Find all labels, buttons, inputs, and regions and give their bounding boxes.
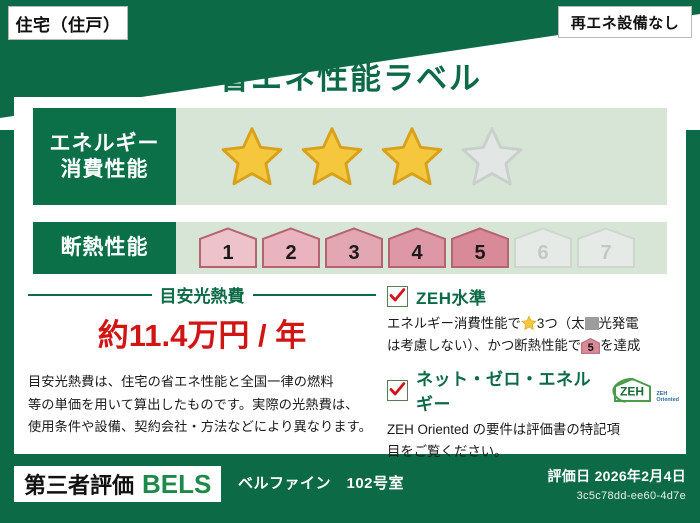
utility-cost-note-line3: 使用条件や設備、契約会社・方法などにより異なります。 xyxy=(28,416,376,439)
insulation-level-filled: 5 xyxy=(450,227,510,269)
insulation-level-empty: 6 xyxy=(513,227,573,269)
evaluation-info: 評価日 2026年2月4日 3c5c78dd-ee60-4d7e xyxy=(547,466,686,502)
utility-cost-heading: 目安光熱費 xyxy=(28,282,376,307)
energy-performance-row: エネルギー 消費性能 xyxy=(33,108,667,205)
label-main-title: 省エネ性能ラベル xyxy=(0,63,700,94)
evaluation-date: 評価日 2026年2月4日 xyxy=(547,466,686,486)
insulation-level-empty: 7 xyxy=(576,227,636,269)
utility-cost-block: 目安光熱費 約11.4万円 / 年 目安光熱費は、住宅の省エネ性能と全国一律の燃… xyxy=(28,282,376,439)
zeh-text-part-a: エネルギー消費性能で xyxy=(387,316,521,331)
utility-cost-value: 約11.4万円 / 年 xyxy=(28,320,376,351)
check-icon xyxy=(389,381,406,398)
zeh-block: ZEH水準 エネルギー消費性能で3つ（太光発電 は考慮しない）、かつ断熱性能で5… xyxy=(387,284,679,472)
insulation-level-number: 1 xyxy=(198,242,258,265)
utility-cost-note-line2: 等の単価を用いて算出したものです。実際の光熱費は、 xyxy=(28,394,376,417)
insulation-level-number: 2 xyxy=(261,242,321,265)
zeh-standard-text: エネルギー消費性能で3つ（太光発電 は考慮しない）、かつ断熱性能で5を達成 xyxy=(387,313,679,356)
utility-cost-note-line1: 目安光熱費は、住宅の省エネ性能と全国一律の燃料 xyxy=(28,371,376,394)
energy-label-line2: 消費性能 xyxy=(61,157,149,183)
utility-cost-heading-text: 目安光熱費 xyxy=(160,282,245,307)
heading-rule-right xyxy=(253,294,377,296)
zeh-text-part-d: は考慮しない）、かつ断熱性能で xyxy=(387,338,581,353)
insulation-level-filled: 1 xyxy=(198,227,258,269)
lower-content: 目安光熱費 約11.4万円 / 年 目安光熱費は、住宅の省エネ性能と全国一律の燃… xyxy=(14,282,686,454)
insulation-level-number: 6 xyxy=(513,242,573,265)
zeh-standard-item: ZEH水準 エネルギー消費性能で3つ（太光発電 は考慮しない）、かつ断熱性能で5… xyxy=(387,284,679,356)
insulation-level-number: 7 xyxy=(576,242,636,265)
star-empty-icon xyxy=(459,125,525,188)
zeh-logo-sub2: Oriented xyxy=(656,398,679,404)
net-zero-text-line1: ZEH Oriented の要件は評価書の特記項 xyxy=(387,419,679,441)
insulation-level-number: 4 xyxy=(387,242,447,265)
footer-bar: 第三者評価 BELS ベルファイン 102号室 評価日 2026年2月4日 3c… xyxy=(0,458,700,523)
inline-star-icon xyxy=(521,315,537,331)
star-rating xyxy=(176,125,525,188)
energy-performance-body xyxy=(176,108,667,205)
insulation-level-scale: 1234567 xyxy=(176,227,636,269)
zeh-text-part-e: を達成 xyxy=(600,338,640,353)
insulation-level-filled: 4 xyxy=(387,227,447,269)
bels-badge: 第三者評価 BELS xyxy=(14,466,221,502)
inline-house-number: 5 xyxy=(581,343,600,354)
insulation-performance-row: 断熱性能 1234567 xyxy=(33,222,667,274)
star-filled-icon xyxy=(379,125,445,188)
svg-text:ZEH: ZEH xyxy=(620,385,644,399)
building-name: ベルファイン 102号室 xyxy=(238,472,404,493)
energy-performance-label: エネルギー 消費性能 xyxy=(33,108,176,205)
building-type-tag: 住宅（住戸） xyxy=(8,6,128,40)
net-zero-energy-title: ネット・ゼロ・エネルギー xyxy=(416,365,602,415)
bels-badge-jp: 第三者評価 xyxy=(24,468,134,500)
bels-energy-label: 住宅（住戸） 再エネ設備なし 建築物省エネ法に基づく 省エネ性能ラベル エネルギ… xyxy=(0,0,700,523)
net-zero-energy-checkbox[interactable] xyxy=(387,380,408,401)
net-zero-energy-header: ネット・ゼロ・エネルギー ZEH ZEH Oriented xyxy=(387,365,679,415)
redacted-character xyxy=(585,317,599,330)
bels-badge-en: BELS xyxy=(142,469,211,500)
zeh-standard-title: ZEH水準 xyxy=(416,284,487,309)
label-subtitle: 建築物省エネ法に基づく xyxy=(0,40,700,56)
utility-cost-note: 目安光熱費は、住宅の省エネ性能と全国一律の燃料 等の単価を用いて算出したものです… xyxy=(28,371,376,439)
zeh-text-part-b: 3つ（太 xyxy=(537,316,585,331)
heading-rule-left xyxy=(28,294,152,296)
zeh-text-part-c: 光発電 xyxy=(599,316,639,331)
energy-label-line1: エネルギー xyxy=(50,131,160,157)
insulation-level-number: 3 xyxy=(324,242,384,265)
insulation-performance-label: 断熱性能 xyxy=(33,222,176,274)
zeh-standard-checkbox[interactable] xyxy=(387,286,408,307)
insulation-label-text: 断熱性能 xyxy=(61,235,149,261)
net-zero-energy-item: ネット・ゼロ・エネルギー ZEH ZEH Oriented xyxy=(387,365,679,462)
evaluation-id: 3c5c78dd-ee60-4d7e xyxy=(547,490,686,502)
zeh-oriented-logo: ZEH ZEH Oriented xyxy=(612,377,679,403)
star-filled-icon xyxy=(219,125,285,188)
renewable-equipment-tag: 再エネ設備なし xyxy=(558,6,692,38)
check-icon xyxy=(389,287,406,304)
inline-house-icon: 5 xyxy=(581,338,600,354)
insulation-level-filled: 3 xyxy=(324,227,384,269)
label-title: 建築物省エネ法に基づく 省エネ性能ラベル xyxy=(0,40,700,94)
insulation-performance-body: 1234567 xyxy=(176,222,667,274)
star-filled-icon xyxy=(299,125,365,188)
insulation-level-filled: 2 xyxy=(261,227,321,269)
zeh-house-logo-icon: ZEH xyxy=(612,377,654,403)
zeh-standard-header: ZEH水準 xyxy=(387,284,679,309)
net-zero-energy-text: ZEH Oriented の要件は評価書の特記項 目をご覧ください。 xyxy=(387,419,679,462)
insulation-level-number: 5 xyxy=(450,242,510,265)
